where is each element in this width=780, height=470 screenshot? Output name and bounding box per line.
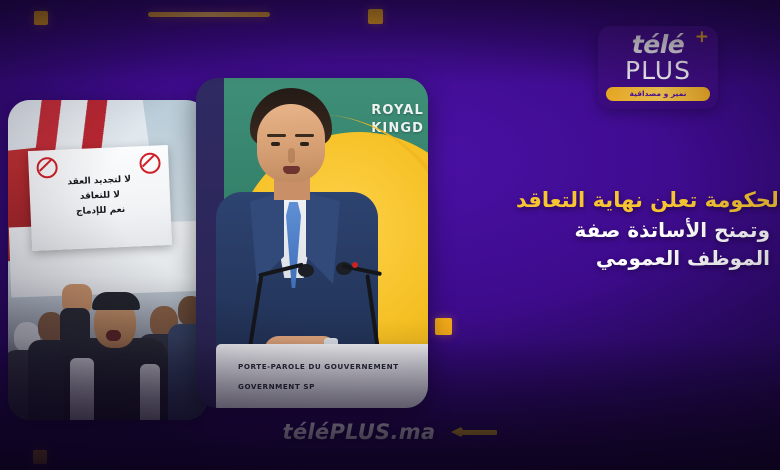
square-top-mid-decoration	[368, 9, 383, 24]
headline: الحكومة تعلن نهاية التعاقد وتمنح الأساتذ…	[410, 186, 770, 273]
arrow-head	[451, 426, 463, 438]
headline-line-2: وتمنح الأساتذة صفة	[410, 216, 770, 244]
protest-photo-fade	[8, 100, 208, 420]
microphone-indicator-light	[352, 262, 358, 268]
speaker-mouth	[283, 166, 300, 174]
footer-site-name[interactable]: téléPLUS.ma	[283, 420, 436, 444]
podium: PORTE-PAROLE DU GOUVERNEMENT GOVERNMENT …	[216, 344, 428, 408]
news-card: ربية شيمساو لا لتجديد العقد لا للتعاقد ن…	[0, 0, 780, 470]
speaker-figure	[220, 88, 370, 388]
teleplus-logo[interactable]: + télé PLUS نمير و مصداقية	[598, 26, 718, 109]
square-top-left-decoration	[34, 11, 48, 25]
speaker-eye-right	[300, 142, 309, 146]
footer-tele: télé	[283, 420, 330, 444]
square-mid-right-decoration	[435, 318, 452, 335]
plus-symbol-icon: +	[695, 27, 709, 47]
footer-domain: .ma	[391, 420, 436, 444]
speaker-eye-left	[271, 142, 280, 146]
left-arrow-icon	[451, 426, 497, 438]
logo-plus-text: PLUS	[606, 58, 710, 83]
footer: téléPLUS.ma	[0, 420, 780, 444]
backdrop-line-1: ROYAL	[371, 102, 424, 120]
arrow-shaft	[459, 430, 497, 435]
speaker-face	[257, 104, 325, 182]
podium-text-english: GOVERNMENT SP	[238, 382, 315, 391]
headline-line-3: الموظف العمومي	[410, 244, 770, 272]
bar-top-decoration	[148, 12, 270, 17]
protest-photo: ربية شيمساو لا لتجديد العقد لا للتعاقد ن…	[8, 100, 208, 420]
logo-badge: نمير و مصداقية	[606, 87, 710, 101]
speaker-brow-left	[267, 134, 286, 137]
square-bottom-left-decoration	[33, 450, 47, 464]
speaker-nose	[288, 148, 295, 163]
speaker-brow-right	[295, 134, 314, 137]
footer-plus: PLUS	[329, 420, 390, 444]
speaker-photo: ROYAL KINGD	[196, 78, 428, 408]
podium-text-french: PORTE-PAROLE DU GOUVERNEMENT	[238, 362, 399, 371]
headline-line-1: الحكومة تعلن نهاية التعاقد	[410, 186, 780, 216]
